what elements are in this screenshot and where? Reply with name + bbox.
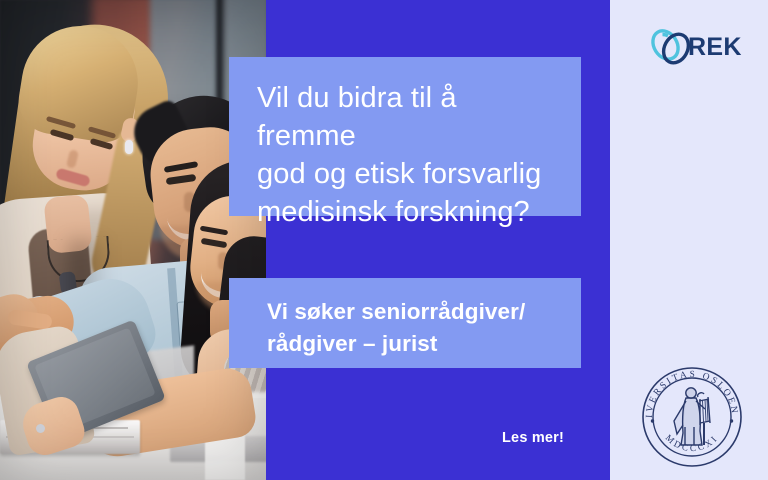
read-more-link[interactable]: Les mer!	[502, 430, 564, 446]
rek-logo[interactable]: REK	[648, 27, 740, 67]
job-advert-banner: Vil du bidra til å fremme god og etisk f…	[0, 0, 768, 480]
headline-panel: Vil du bidra til å fremme god og etisk f…	[229, 57, 581, 216]
headline-line-3: medisinsk forskning?	[257, 193, 555, 231]
headline-line-1: Vil du bidra til å fremme	[257, 79, 555, 155]
rek-wordmark: REK	[688, 33, 742, 62]
team-collaboration-photo	[0, 0, 266, 480]
job-title-panel: Vi søker seniorrådgiver/ rådgiver – juri…	[229, 278, 581, 368]
photo-woman-standing-ring	[36, 424, 45, 433]
uio-seal-icon: UNIVERSITAS OSLOENSIS MDCCCXI	[636, 361, 748, 473]
uio-apollo-seal[interactable]: UNIVERSITAS OSLOENSIS MDCCCXI	[636, 361, 748, 473]
photo-woman-standing-earring	[125, 140, 133, 154]
job-title-line-1: Vi søker seniorrådgiver/	[267, 296, 561, 328]
job-title-line-2: rådgiver – jurist	[267, 328, 561, 360]
headline-line-2: god og etisk forsvarlig	[257, 155, 555, 193]
